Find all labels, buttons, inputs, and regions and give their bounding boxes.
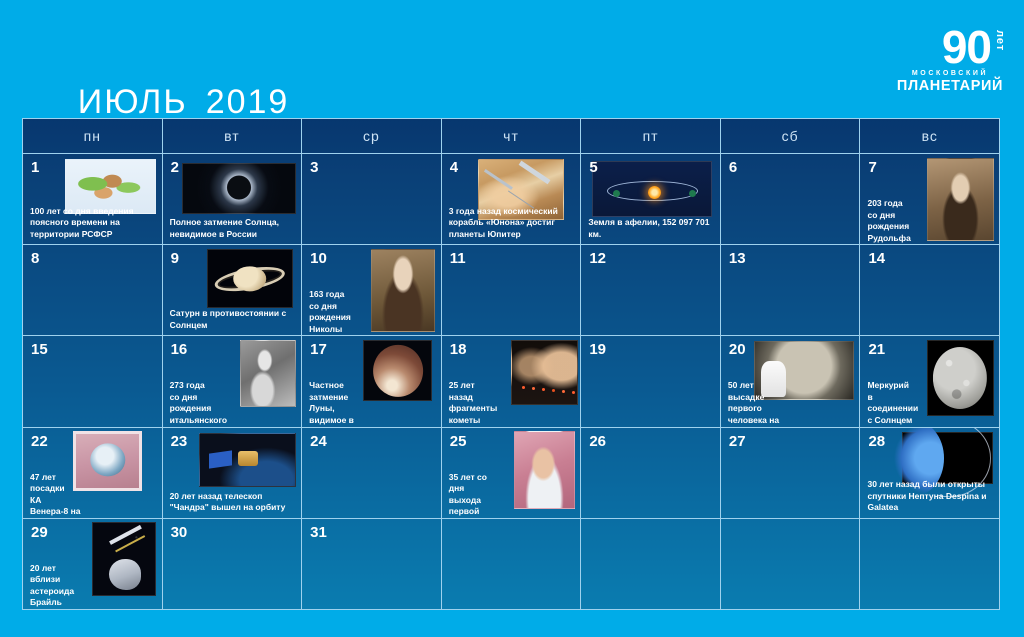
logo-line-planetarium: ПЛАНЕТАРИЙ xyxy=(894,78,1006,94)
day-number: 12 xyxy=(589,250,606,267)
logo-years-word: лет xyxy=(994,30,1006,51)
weekday-label: сб xyxy=(782,128,799,144)
calendar-day-cell-11[interactable]: 11 xyxy=(441,245,581,335)
day-number: 18 xyxy=(450,341,467,358)
weekday-header-вт: вт xyxy=(162,119,302,153)
calendar-week-row: 1100 лет со дня введения поясного времен… xyxy=(23,153,999,244)
day-number: 15 xyxy=(31,341,48,358)
calendar-day-cell-empty xyxy=(859,519,999,609)
day-number: 22 xyxy=(31,433,48,450)
calendar-day-cell-2[interactable]: 2Полное затмение Солнца, невидимое в Рос… xyxy=(162,154,302,244)
day-number: 6 xyxy=(729,159,737,176)
total-solar-eclipse-photo-thumbnail xyxy=(182,163,296,214)
day-number: 19 xyxy=(589,341,606,358)
calendar-day-cell-19[interactable]: 19 xyxy=(580,336,720,426)
day-number: 25 xyxy=(450,433,467,450)
day-number: 29 xyxy=(31,524,48,541)
mercury-planet-photo-thumbnail xyxy=(927,340,994,416)
calendar-day-cell-17[interactable]: 17Частное затмение Луны, видимое в центр… xyxy=(301,336,441,426)
day-number: 23 xyxy=(171,433,188,450)
day-number: 1 xyxy=(31,159,39,176)
day-event-caption: 203 года со дня рождения Рудольфа Вольфа xyxy=(867,198,918,244)
day-number: 24 xyxy=(310,433,327,450)
day-number: 9 xyxy=(171,250,179,267)
deep-space-1-asteroid-braille-thumbnail xyxy=(92,522,156,596)
day-number: 17 xyxy=(310,341,327,358)
planetarium-logo: 90 лет МОСКОВСКИЙ ПЛАНЕТАРИЙ xyxy=(894,26,1006,110)
calendar-day-cell-6[interactable]: 6 xyxy=(720,154,860,244)
calendar-day-cell-21[interactable]: 21Меркурий в соединении с Солнцем xyxy=(859,336,999,426)
day-number: 16 xyxy=(171,341,188,358)
weekday-header-row: пнвтсрчтптсбвс xyxy=(23,119,999,153)
weekday-label: чт xyxy=(503,128,519,144)
calendar-day-cell-10[interactable]: 10163 года со дня рождения Николы Тесла xyxy=(301,245,441,335)
logo-anniversary-number: 90 xyxy=(942,26,991,68)
day-event-caption: Земля в афелии, 152 097 701 км. xyxy=(588,217,716,240)
weekday-label: пн xyxy=(84,128,101,144)
calendar-day-cell-24[interactable]: 24 xyxy=(301,428,441,518)
calendar-day-cell-empty xyxy=(441,519,581,609)
rudolf-wolf-portrait-thumbnail xyxy=(927,158,994,241)
earth-aphelion-orbit-diagram-thumbnail xyxy=(592,161,711,217)
calendar-week-row: 89Сатурн в противостоянии с Солнцем10163… xyxy=(23,244,999,335)
calendar-day-cell-29[interactable]: 2920 лет вблизи астероида Брайль пролете… xyxy=(23,519,162,609)
weekday-label: вс xyxy=(922,128,938,144)
weekday-header-сб: сб xyxy=(720,119,860,153)
weekday-label: вт xyxy=(224,128,240,144)
calendar-page: ИЮЛЬ2019 90 лет МОСКОВСКИЙ ПЛАНЕТАРИЙ пн… xyxy=(0,0,1024,637)
calendar-week-row: 2247 лет посадки КА Венера-8 на поверхно… xyxy=(23,427,999,518)
weekday-header-пт: пт xyxy=(580,119,720,153)
neptune-rings-moons-diagram-thumbnail xyxy=(902,432,993,484)
day-event-caption: Меркурий в соединении с Солнцем xyxy=(867,380,918,426)
calendar-day-cell-23[interactable]: 2320 лет назад телескоп "Чандра" вышел н… xyxy=(162,428,302,518)
day-event-caption: 100 лет со дня введения поясного времени… xyxy=(30,206,158,241)
calendar-week-row: 1516273 года со дня рождения итальянског… xyxy=(23,335,999,426)
calendar-day-cell-1[interactable]: 1100 лет со дня введения поясного времен… xyxy=(23,154,162,244)
day-number: 30 xyxy=(171,524,188,541)
day-number: 8 xyxy=(31,250,39,267)
calendar-day-cell-26[interactable]: 26 xyxy=(580,428,720,518)
calendar-day-cell-15[interactable]: 15 xyxy=(23,336,162,426)
calendar-day-cell-31[interactable]: 31 xyxy=(301,519,441,609)
month-label: ИЮЛЬ xyxy=(78,83,188,121)
day-number: 13 xyxy=(729,250,746,267)
day-number: 28 xyxy=(868,433,885,450)
calendar-day-cell-18[interactable]: 1825 лет назад фрагменты кометы врезалис… xyxy=(441,336,581,426)
weekday-label: пт xyxy=(643,128,659,144)
day-event-caption: 273 года со дня рождения итальянского ас… xyxy=(170,380,221,426)
calendar-day-cell-9[interactable]: 9Сатурн в противостоянии с Солнцем xyxy=(162,245,302,335)
calendar-day-cell-empty xyxy=(720,519,860,609)
day-event-caption: 50 лет высадке первого человека на Луну xyxy=(728,380,779,426)
calendar-day-cell-4[interactable]: 43 года назад космический корабль «Юнона… xyxy=(441,154,581,244)
day-number: 4 xyxy=(450,159,458,176)
calendar-day-cell-5[interactable]: 5Земля в афелии, 152 097 701 км. xyxy=(580,154,720,244)
day-number: 27 xyxy=(729,433,746,450)
day-number: 3 xyxy=(310,159,318,176)
weekday-header-ср: ср xyxy=(301,119,441,153)
calendar-day-cell-22[interactable]: 2247 лет посадки КА Венера-8 на поверхно… xyxy=(23,428,162,518)
calendar-day-cell-13[interactable]: 13 xyxy=(720,245,860,335)
giuseppe-piazzi-engraving-thumbnail xyxy=(240,340,295,407)
weekday-header-пн: пн xyxy=(23,119,162,153)
calendar-day-cell-27[interactable]: 27 xyxy=(720,428,860,518)
day-number: 31 xyxy=(310,524,327,541)
day-event-caption: 20 лет назад телескоп "Чандра" вышел на … xyxy=(170,491,298,514)
shoemaker-levy-jupiter-impact-thumbnail xyxy=(511,340,578,405)
partial-lunar-eclipse-photo-thumbnail xyxy=(363,340,432,401)
calendar-day-cell-28[interactable]: 2830 лет назад были открыты спутники Неп… xyxy=(859,428,999,518)
calendar-day-cell-3[interactable]: 3 xyxy=(301,154,441,244)
day-number: 10 xyxy=(310,250,327,267)
day-number: 2 xyxy=(171,159,179,176)
calendar-day-cell-20[interactable]: 2050 лет высадке первого человека на Лун… xyxy=(720,336,860,426)
calendar-day-cell-8[interactable]: 8 xyxy=(23,245,162,335)
calendar-day-cell-30[interactable]: 30 xyxy=(162,519,302,609)
weekday-header-чт: чт xyxy=(441,119,581,153)
day-event-caption: Сатурн в противостоянии с Солнцем xyxy=(170,308,298,331)
day-event-caption: Полное затмение Солнца, невидимое в Росс… xyxy=(170,217,298,240)
chandra-telescope-render-thumbnail xyxy=(199,433,296,487)
weekday-header-вс: вс xyxy=(859,119,999,153)
day-event-caption: 47 лет посадки КА Венера-8 на поверхност… xyxy=(30,472,81,518)
calendar-grid: пнвтсрчтптсбвс 1100 лет со дня введения … xyxy=(22,118,1000,610)
day-number: 26 xyxy=(589,433,606,450)
calendar-day-cell-empty xyxy=(580,519,720,609)
svetlana-savitskaya-portrait-thumbnail xyxy=(514,431,575,509)
day-number: 11 xyxy=(450,250,466,267)
day-event-caption: 25 лет назад фрагменты кометы врезались … xyxy=(449,380,500,426)
day-event-caption: 20 лет вблизи астероида Брайль пролетел … xyxy=(30,563,81,609)
nikola-tesla-portrait-thumbnail xyxy=(371,249,435,332)
day-number: 20 xyxy=(729,341,746,358)
calendar-day-cell-7[interactable]: 7203 года со дня рождения Рудольфа Вольф… xyxy=(859,154,999,244)
day-number: 5 xyxy=(589,159,597,176)
calendar-day-cell-16[interactable]: 16273 года со дня рождения итальянского … xyxy=(162,336,302,426)
calendar-week-row: 2920 лет вблизи астероида Брайль пролете… xyxy=(23,518,999,609)
calendar-day-cell-14[interactable]: 14 xyxy=(859,245,999,335)
venera-8-postage-stamp-thumbnail xyxy=(73,431,142,491)
day-number: 21 xyxy=(868,341,885,358)
weekday-label: ср xyxy=(363,128,380,144)
day-event-caption: Частное затмение Луны, видимое в центре … xyxy=(309,380,360,426)
year-label: 2019 xyxy=(206,83,290,121)
calendar-day-cell-25[interactable]: 2535 лет со дня выхода первой женщины в … xyxy=(441,428,581,518)
day-event-caption: 35 лет со дня выхода первой женщины в от… xyxy=(449,472,500,518)
day-event-caption: 3 года назад космический корабль «Юнона»… xyxy=(449,206,577,241)
day-number: 14 xyxy=(868,250,885,267)
day-event-caption: 163 года со дня рождения Николы Тесла xyxy=(309,289,360,335)
day-number: 7 xyxy=(868,159,876,176)
day-event-caption: 30 лет назад были открыты спутники Непту… xyxy=(867,479,995,514)
calendar-day-cell-12[interactable]: 12 xyxy=(580,245,720,335)
saturn-opposition-photo-thumbnail xyxy=(207,249,293,309)
